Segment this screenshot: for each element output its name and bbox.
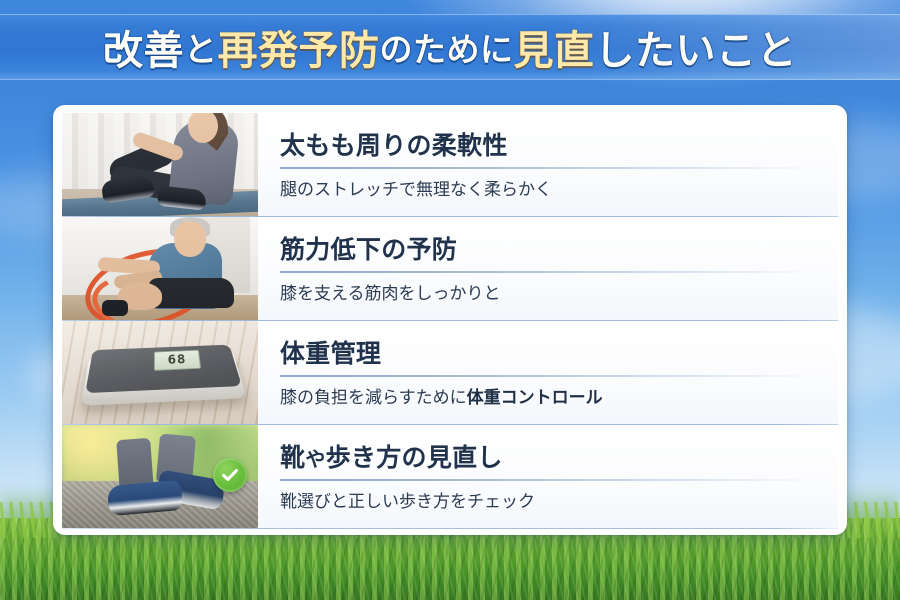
photo-bathroom-scale: 68 <box>62 321 258 424</box>
scale-display: 68 <box>154 350 201 371</box>
row-subtext: 膝を支える筋肉をしっかりと <box>280 284 818 304</box>
page-title: 改善 と 再発予防 のために 見直 したいこと <box>0 14 900 80</box>
content-panel: 太もも周りの柔軟性 腿のストレッチで無理なく柔らかく <box>53 105 847 535</box>
title-segment-6: したいこと <box>595 18 798 76</box>
row-heading: 体重管理 <box>280 341 818 369</box>
row-content: 体重管理 膝の負担を減らすために体重コントロール <box>258 321 838 424</box>
row-subtext: 膝の負担を減らすために体重コントロール <box>280 388 818 408</box>
row-heading-prefix: 靴 <box>280 444 305 472</box>
row-content: 筋力低下の予防 膝を支える筋肉をしっかりと <box>258 217 838 320</box>
title-segment-5: 見直 <box>514 18 595 76</box>
row-heading: 太もも周りの柔軟性 <box>280 133 818 161</box>
row-content: 靴や歩き方の見直し 靴選びと正しい歩き方をチェック <box>258 425 838 528</box>
check-icon <box>220 465 240 485</box>
row-thumbnail-stretching <box>62 113 258 216</box>
photo-woman-stretching <box>62 113 258 216</box>
row-list: 太もも周りの柔軟性 腿のストレッチで無理なく柔らかく <box>62 113 838 527</box>
title-segment-1: 改善 <box>103 18 184 76</box>
list-item[interactable]: 靴や歩き方の見直し 靴選びと正しい歩き方をチェック <box>62 425 838 528</box>
heading-underline <box>280 375 818 377</box>
row-heading-particle: や <box>305 449 325 471</box>
row-heading-suffix: 歩き方の見直し <box>326 444 503 472</box>
row-subtext-emphasis: 体重コントロール <box>467 388 603 407</box>
title-segment-3: 再発予防 <box>218 18 380 76</box>
list-item[interactable]: 太もも周りの柔軟性 腿のストレッチで無理なく柔らかく <box>62 113 838 217</box>
check-badge <box>213 458 247 492</box>
row-thumbnail-resistance-band <box>62 217 258 320</box>
row-heading: 靴や歩き方の見直し <box>280 445 818 473</box>
slide-canvas: 改善 と 再発予防 のために 見直 したいこと <box>0 0 900 600</box>
list-item[interactable]: 68 体重管理 膝の負担を減らすために体重コントロール <box>62 321 838 425</box>
row-content: 太もも周りの柔軟性 腿のストレッチで無理なく柔らかく <box>258 113 838 216</box>
row-heading: 筋力低下の予防 <box>280 237 818 265</box>
heading-underline <box>280 167 818 169</box>
heading-underline <box>280 271 818 273</box>
row-thumbnail-scale: 68 <box>62 321 258 424</box>
row-subtext-plain: 膝の負担を減らすために <box>280 388 467 407</box>
title-segment-4: のために <box>380 23 514 71</box>
heading-underline <box>280 479 818 481</box>
photo-man-resistance-band <box>62 217 258 320</box>
title-segment-2: と <box>184 23 218 71</box>
scale-display-value: 68 <box>167 353 187 368</box>
row-subtext: 腿のストレッチで無理なく柔らかく <box>280 180 818 200</box>
list-item[interactable]: 筋力低下の予防 膝を支える筋肉をしっかりと <box>62 217 838 321</box>
row-subtext: 靴選びと正しい歩き方をチェック <box>280 492 818 512</box>
